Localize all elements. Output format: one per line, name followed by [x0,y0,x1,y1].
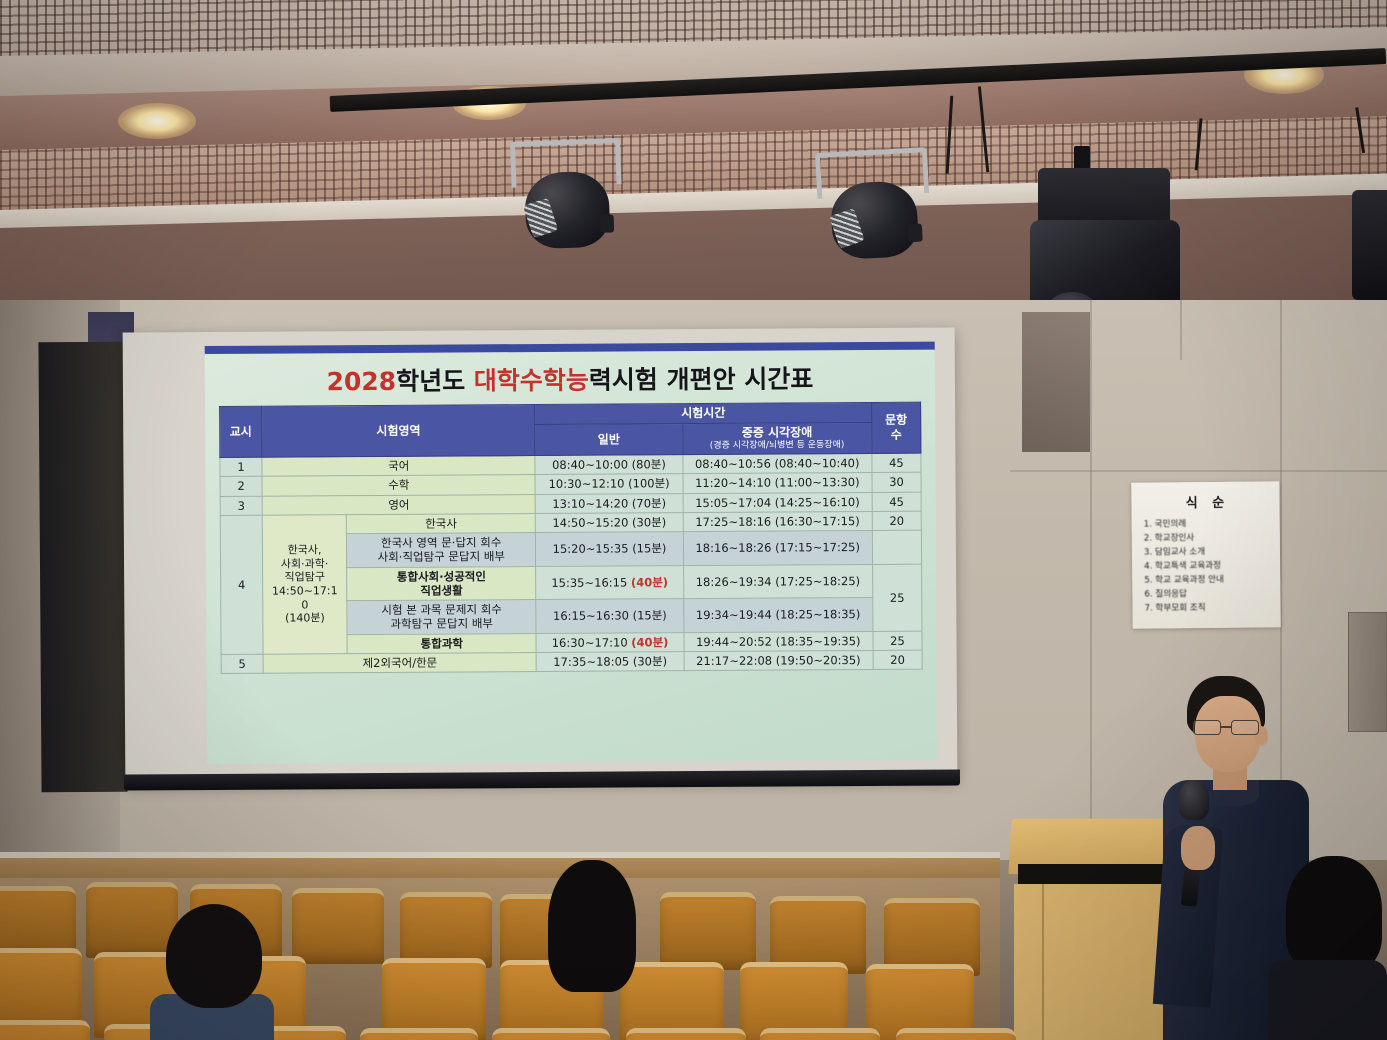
header-count-line1: 문항 [885,413,907,427]
poster-list-item: 4. 학교특색 교육과정 [1144,559,1272,574]
header-count-line2: 수 [891,428,902,442]
seat [492,1028,610,1040]
par-can-light-icon [815,147,933,273]
cell-subject: 시험 본 과목 문제지 회수 과학탐구 문답지 배부 [347,600,536,635]
cell-severe-time: 21:17~22:08 (19:50~20:35) [684,650,873,670]
seat [400,892,492,968]
seat [660,892,756,970]
light-fixture-edge [1352,190,1387,300]
cell-area: 영어 [262,494,535,515]
header-area: 시험영역 [262,405,536,458]
cell-general-time: 08:40~10:00 (80분) [535,455,682,475]
cell-severe-time: 18:26~19:34 (17:25~18:25) [683,564,872,599]
group-label-line: 직업탐구 [265,570,344,584]
cell-general-time: 16:15~16:30 (15분) [536,599,683,633]
cell-general-time: 15:35~16:15 (40분) [536,565,683,599]
seat [86,882,178,958]
cell-count: 45 [872,453,921,473]
par-can-light-icon [510,138,624,260]
wall-vent-grille [1348,612,1387,732]
cell-general-time: 15:20~15:35 (15분) [536,532,683,566]
cell-period: 3 [220,496,262,516]
cell-severe-time: 11:20~14:10 (11:00~13:30) [683,473,872,493]
group-label-line: 한국사, [265,543,344,557]
subject-line-2: 직업생활 [349,583,533,598]
ceiling-downlight-icon [118,103,196,139]
poster-list-item: 6. 질의응답 [1144,587,1272,602]
cell-count: 25 [872,564,922,631]
poster-list-item: 1. 국민의례 [1144,517,1272,532]
cell-count: 20 [872,511,921,531]
wall-seam [1090,300,1092,860]
light-lens [830,208,866,249]
poster-list-item: 3. 담임교사 소개 [1144,545,1272,560]
general-time-range: 15:35~16:15 [551,575,631,589]
audience-member-head [166,904,262,1008]
cell-severe-time: 15:05~17:04 (14:25~16:10) [683,492,872,512]
seat [896,1028,1016,1040]
exam-schedule-table: 교시 시험영역 시험시간 문항 수 일반 중증 시각장애 (경증 시각장애/뇌병… [219,402,923,674]
slide-title-part3: 대학수학능 [474,366,589,396]
cell-count: 30 [872,473,921,493]
slide-title-part2: 학년도 [396,366,474,395]
cell-count: 20 [873,650,922,670]
microphone-icon [1179,780,1209,820]
cell-area: 제2외국어/한문 [263,652,536,673]
cell-severe-time: 18:16~18:26 (17:15~17:25) [683,531,872,566]
auditorium-scene: 식 순 1. 국민의례 2. 학교장인사 3. 담임교사 소개 4. 학교특색 … [0,0,1387,1040]
audience-member-torso-right [1268,960,1387,1040]
poster-list-item: 2. 학교장인사 [1144,531,1272,546]
wall-seam [1180,300,1182,360]
glasses-lens-right [1231,720,1259,735]
screen-side-shadow [38,342,127,793]
audience-seating [0,862,1000,1040]
cell-area: 수학 [262,475,535,496]
cell-period: 1 [220,457,262,477]
seat [626,1028,746,1040]
table-row: 5 제2외국어/한문 17:35~18:05 (30분) 21:17~22:08… [221,650,922,674]
cell-general-time: 14:50~15:20 (30분) [536,513,683,533]
subject-line-2: 사회·직업탐구 문답지 배부 [349,549,533,564]
poster-list-item: 5. 학교 교육과정 안내 [1144,573,1272,588]
audience-member-head [548,860,636,992]
slide-title: 2028학년도 대학수학능력시험 개편안 시간표 [219,366,921,397]
subject-line-1: 시험 본 과목 문제지 회수 [349,602,533,617]
light-lens [523,198,558,238]
glasses-bridge [1221,726,1231,728]
cell-subject: 통합사회·성공적인 직업생활 [347,566,536,601]
slide-title-part4: 력시험 개편안 시간표 [589,364,814,394]
poster-title: 식 순 [1143,491,1271,511]
cell-general-time: 13:10~14:20 (70분) [536,493,683,513]
program-poster: 식 순 1. 국민의례 2. 학교장인사 3. 담임교사 소개 4. 학교특색 … [1131,481,1281,629]
cell-general-time: 17:35~18:05 (30분) [537,652,684,672]
group-label-line: (140분) [265,611,344,625]
group-label-line: 14:50~17:1 [265,584,344,598]
podium-seam [1042,884,1044,1040]
subject-line-2: 과학탐구 문답지 배부 [350,616,534,631]
header-severe-disability: 중증 시각장애 (경증 시각장애/뇌병변 등 운동장애) [682,423,871,455]
poster-list-item: 7. 학부모회 조직 [1144,601,1272,616]
cell-general-time: 16:30~17:10 (40분) [536,632,683,652]
cell-count: 25 [873,631,922,651]
seat [760,1028,880,1040]
header-exam-time: 시험시간 [535,403,872,425]
slide-title-year: 2028 [326,367,396,396]
cell-severe-time: 19:44~20:52 (18:35~19:35) [684,631,873,651]
seat [360,1028,478,1040]
light-housing [524,171,610,250]
group-label-line: 사회·과학· [265,557,344,571]
light-knob [599,214,614,232]
general-time-duration: (40분) [631,635,668,649]
seat [292,888,384,964]
cell-severe-time: 08:40~10:56 (08:40~10:40) [683,454,872,474]
cell-area: 국어 [262,456,535,477]
seat [0,1020,90,1040]
projection-screen: 2028학년도 대학수학능력시험 개편안 시간표 교시 시험영역 시험시간 [123,327,958,784]
header-severe-sub: (경증 시각장애/뇌병변 등 운동장애) [685,440,869,452]
presenter-hand [1181,826,1215,870]
wall-seam [1010,470,1387,472]
cell-severe-time: 17:25~18:16 (16:30~17:15) [683,511,872,531]
cell-count: 45 [872,492,921,512]
cell-subject: 한국사 [346,513,535,533]
header-period: 교시 [220,406,262,457]
cell-general-time: 10:30~12:10 (100분) [535,474,682,494]
header-severe-main: 중증 시각장애 [742,425,813,439]
glasses-icon [1191,720,1265,736]
general-time-duration: (40분) [631,575,668,589]
presentation-slide: 2028학년도 대학수학능력시험 개편안 시간표 교시 시험영역 시험시간 [205,350,937,764]
cell-period: 4 [220,515,263,654]
cell-period: 2 [220,477,262,497]
cell-subject: 통합과학 [347,633,536,653]
header-general: 일반 [535,424,682,456]
subject-line-1: 통합사회·성공적인 [349,569,533,584]
cell-subject: 한국사 영역 문·답지 회수 사회·직업탐구 문답지 배부 [347,533,536,568]
cell-area-group: 한국사, 사회·과학· 직업탐구 14:50~17:1 0 (140분) [262,515,347,655]
general-time-range: 16:30~17:10 [552,635,632,649]
cell-severe-time: 19:34~19:44 (18:25~18:35) [683,598,872,633]
group-label-line: 0 [265,598,344,612]
audience-member-head-right [1286,856,1382,972]
wall-niche-right [1022,312,1090,452]
cell-period: 5 [221,654,263,674]
cell-count [872,530,921,564]
light-knob [907,224,922,243]
light-housing [830,180,919,260]
subject-line-1: 한국사 영역 문·답지 회수 [349,535,533,550]
glasses-lens-left [1193,720,1221,735]
header-question-count: 문항 수 [871,402,920,453]
